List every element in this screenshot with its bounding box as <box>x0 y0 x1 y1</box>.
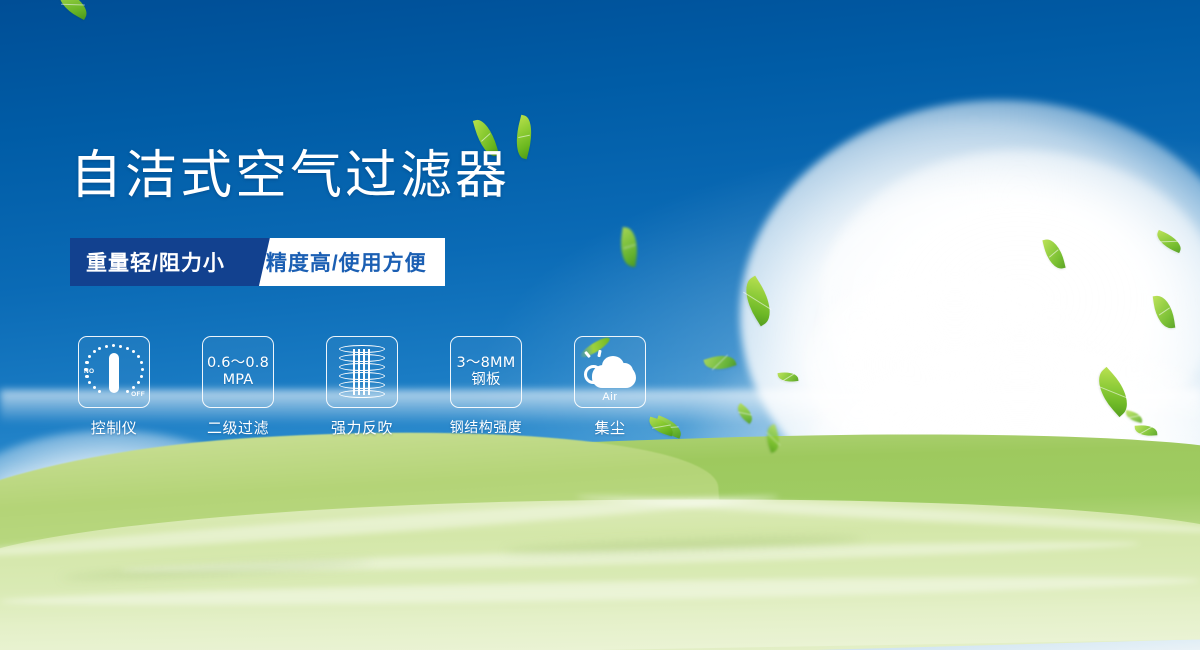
air-label: Air <box>584 391 636 403</box>
grass-streak-4 <box>576 491 1200 538</box>
subtitle-bar: 重量轻/阻力小 精度高/使用方便 <box>70 238 445 286</box>
steel-value-line2: 钢板 <box>471 372 500 389</box>
gauge-icon: NO OFF <box>85 344 143 400</box>
floating-leaf-2 <box>617 227 640 267</box>
cloud-horizon-3 <box>260 455 520 590</box>
cloud-horizon-2 <box>120 448 350 578</box>
page-title: 自洁式空气过滤器 <box>70 148 510 205</box>
feature-icon-box: 3～8MM 钢板 <box>450 336 522 408</box>
cloud-air-icon: Air <box>584 354 636 388</box>
floating-leaf-9 <box>1154 230 1185 253</box>
leaf-near-dust-label <box>647 417 676 437</box>
product-banner: 自洁式空气过滤器 重量轻/阻力小 精度高/使用方便 NO OFF <box>0 0 1200 650</box>
steel-value-line1: 3～8MM <box>457 355 516 372</box>
floating-leaf-12 <box>1135 424 1158 437</box>
grass-near-layer <box>0 489 1200 650</box>
floating-leaf-5 <box>778 371 799 383</box>
floating-leaf-8 <box>1042 237 1065 272</box>
floating-leaf-10 <box>1153 294 1176 330</box>
cloud-horizon-7 <box>60 470 260 570</box>
feature-item-control-gauge[interactable]: NO OFF <box>78 336 150 438</box>
floating-leaf-1 <box>54 0 92 20</box>
feature-label: 强力反吹 <box>331 417 393 438</box>
feature-label: 钢结构强度 <box>450 417 523 437</box>
feature-item-steel-strength[interactable]: 3～8MM 钢板 钢结构强度 <box>450 336 522 438</box>
gauge-off-label: OFF <box>131 391 145 398</box>
feature-label: 集尘 <box>594 417 625 438</box>
grass-far-layer <box>0 423 1200 650</box>
subtitle-right: 精度高/使用方便 <box>256 238 445 286</box>
cloud-large-right <box>740 100 1200 530</box>
grass-streak-3 <box>0 572 1200 611</box>
cloud-mid-right <box>810 330 1200 570</box>
cloud-horizon-band <box>0 468 1200 548</box>
cloud-horizon-4 <box>410 470 710 620</box>
grass-streak-2 <box>120 537 1140 578</box>
floating-leaf-3 <box>736 276 779 327</box>
feature-icon-box: NO OFF <box>78 336 150 408</box>
grass-shadow-1 <box>504 534 864 557</box>
grass-hill-left <box>0 410 725 646</box>
floating-leaf-14 <box>1124 410 1144 423</box>
cloud-horizon-6 <box>820 452 1200 622</box>
grass-streak-1 <box>0 489 780 564</box>
cloud-large-right-2 <box>820 150 1200 450</box>
floating-leaf-4 <box>703 351 736 375</box>
feature-icon-box <box>326 336 398 408</box>
feature-label: 控制仪 <box>91 417 138 438</box>
cloud-horizon-8 <box>330 480 500 575</box>
gauge-needle <box>109 353 119 393</box>
feature-item-secondary-filter[interactable]: 0.6～0.8 MPA 二级过滤 <box>202 336 274 438</box>
pressure-value-line1: 0.6～0.8 <box>207 355 269 372</box>
feature-icon-box: 0.6～0.8 MPA <box>202 336 274 408</box>
floating-leaf-7 <box>762 424 783 453</box>
feature-list: NO OFF <box>78 336 646 438</box>
pressure-value-line2: MPA <box>223 372 254 389</box>
coil-filter-icon <box>339 345 385 399</box>
grass-shadow-2 <box>60 558 372 582</box>
feature-icon-box: Air <box>574 336 646 408</box>
cloud-body <box>592 365 636 388</box>
subtitle-left: 重量轻/阻力小 <box>70 238 245 286</box>
title-leaf-right <box>511 115 537 160</box>
cloud-large-right-3 <box>805 260 1105 470</box>
floating-leaf-11 <box>1089 367 1138 417</box>
sky-glow <box>0 0 1200 650</box>
feature-item-dust-collection[interactable]: Air 集尘 <box>574 336 646 438</box>
floating-leaf-6 <box>734 403 757 424</box>
cloud-horizon-1 <box>0 430 280 620</box>
cloud-haze-right <box>690 300 1200 620</box>
cloud-horizon-5 <box>600 460 940 620</box>
feature-label: 二级过滤 <box>207 417 269 438</box>
feature-item-backblow[interactable]: 强力反吹 <box>326 336 398 438</box>
